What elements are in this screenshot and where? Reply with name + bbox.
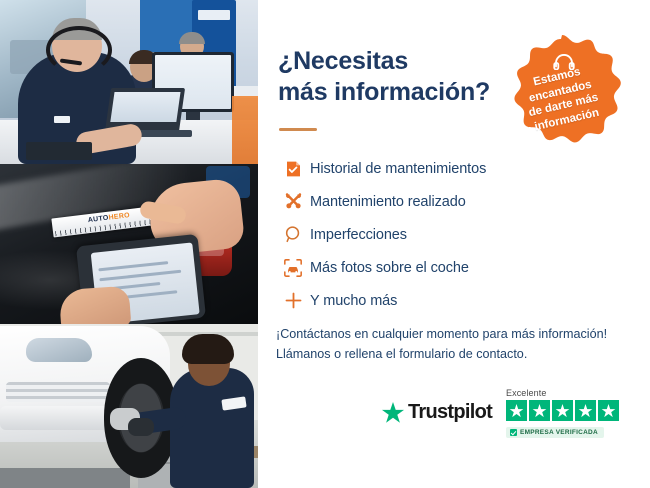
ruler-brand-hero: HERO (108, 212, 130, 222)
trustpilot-wordmark: Trustpilot (408, 401, 492, 424)
contact-paragraph-line-1: ¡Contáctanos en cualquier momento para m… (276, 324, 632, 344)
feature-item-mucho-mas: Y mucho más (276, 284, 606, 317)
star-tile (529, 400, 550, 421)
page-title-line-2: más información? (278, 77, 528, 108)
feature-item-historial: Historial de mantenimientos (276, 152, 606, 185)
clipboard-check-icon (276, 159, 310, 179)
feature-label: Mantenimiento realizado (310, 194, 466, 210)
mechanic-hair (182, 334, 234, 364)
star-tile (552, 400, 573, 421)
trustpilot-rating: Trustpilot Excelente EMPRESA VERIFICADA (382, 388, 650, 448)
promo-starburst-badge: Estamos encantados de darte más informac… (498, 32, 626, 160)
ruler-brand-auto: AUTO (87, 215, 109, 224)
feature-label: Historial de mantenimientos (310, 161, 486, 177)
contact-paragraph: ¡Contáctanos en cualquier momento para m… (276, 324, 632, 365)
feature-label: Imperfecciones (310, 227, 407, 243)
car-inspection-ruler-photo: AUTOHERO (0, 164, 258, 324)
photo-column: AUTOHERO (0, 0, 258, 488)
trustpilot-star-icon (382, 402, 404, 423)
trustpilot-stars (506, 400, 619, 421)
star-tile (598, 400, 619, 421)
star-tile (506, 400, 527, 421)
feature-item-mas-fotos: Más fotos sobre el coche (276, 251, 606, 284)
tools-icon (276, 192, 310, 211)
contact-paragraph-line-2: Llámanos o rellena el formulario de cont… (276, 344, 632, 364)
trustpilot-rating-label: Excelente (506, 388, 546, 398)
feature-item-imperfecciones: Imperfecciones (276, 218, 606, 251)
car-grille (6, 382, 110, 402)
feature-label: Más fotos sobre el coche (310, 260, 469, 276)
car-photo-frame-icon (276, 258, 310, 278)
page-title-line-1: ¿Necesitas (278, 46, 528, 77)
contact-info-poster: AUTOHERO (0, 0, 650, 488)
feature-list: Historial de mantenimientos Mantenimient… (276, 152, 606, 317)
tablet-row (98, 261, 168, 271)
mechanic-glove-dark (128, 418, 154, 436)
verified-check-icon (510, 429, 517, 436)
call-center-agents-photo (0, 0, 258, 164)
title-underline-rule (279, 128, 317, 131)
feature-item-mantenimiento: Mantenimiento realizado (276, 185, 606, 218)
tablet-row (99, 270, 181, 282)
plus-icon (276, 291, 310, 310)
car-lift-ramp (0, 468, 130, 488)
verified-company-badge: EMPRESA VERIFICADA (506, 427, 604, 438)
magnifier-icon (276, 225, 310, 244)
content-panel: ¿Necesitas más información? Estamos enca… (258, 0, 650, 488)
agent-name-badge (54, 116, 70, 123)
desk-tablet (26, 142, 92, 160)
trustpilot-logo: Trustpilot (382, 401, 492, 424)
page-title: ¿Necesitas más información? (278, 46, 528, 107)
feature-label: Y mucho más (310, 293, 397, 309)
verified-company-label: EMPRESA VERIFICADA (520, 429, 598, 436)
mechanic-body (170, 368, 254, 488)
orange-chair (232, 96, 258, 164)
agent-headset-icon (46, 26, 112, 74)
car-headlight (26, 338, 92, 362)
mechanic-tire-check-photo (0, 324, 258, 488)
star-tile (575, 400, 596, 421)
